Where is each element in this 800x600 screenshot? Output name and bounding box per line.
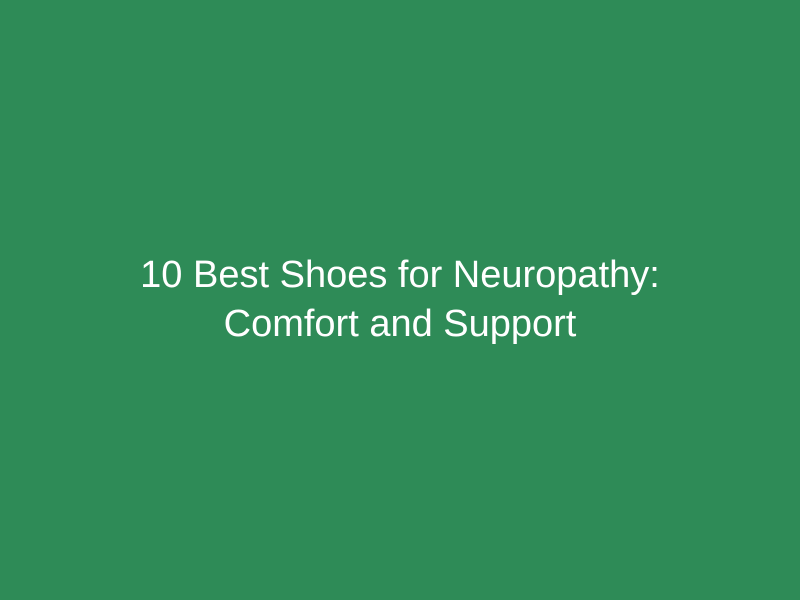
title-block: 10 Best Shoes for Neuropathy: Comfort an…	[50, 251, 750, 349]
placeholder-image-card: 10 Best Shoes for Neuropathy: Comfort an…	[0, 0, 800, 600]
page-title: 10 Best Shoes for Neuropathy: Comfort an…	[70, 251, 730, 349]
